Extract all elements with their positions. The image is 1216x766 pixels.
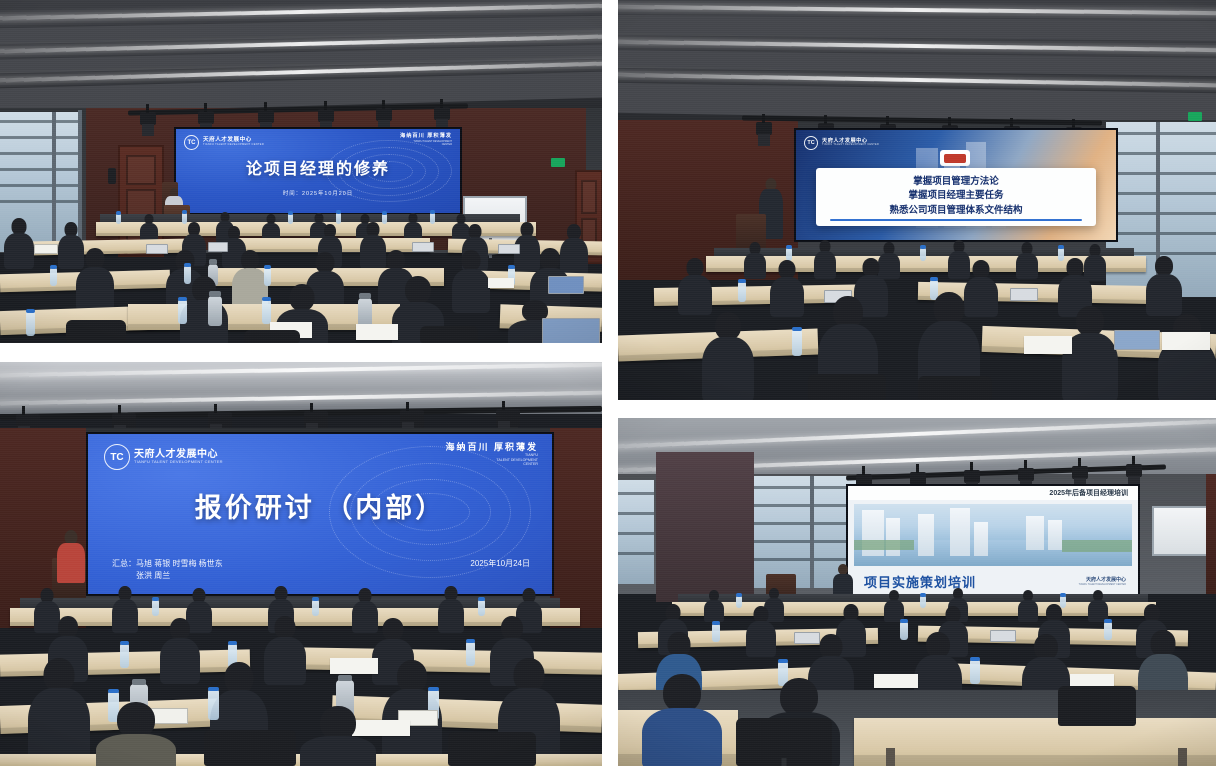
building-render-image (854, 504, 1132, 566)
laptop (146, 244, 168, 254)
chair (66, 320, 126, 343)
water-bottle (920, 248, 926, 261)
water-bottle (1104, 622, 1112, 640)
screen-banner-bar: 2025年后备项目经理培训 (848, 486, 1138, 500)
screen-logo: TC 天府人才发展中心 TIANFU TALENT DEVELOPMENT CE… (104, 444, 223, 470)
table (854, 718, 1216, 766)
speaker-person (832, 564, 854, 598)
tianfu-logo-icon: TC (804, 136, 818, 150)
water-bottle (336, 213, 341, 224)
chair (448, 732, 536, 766)
water-bottle (792, 330, 802, 356)
attendee (1018, 590, 1038, 620)
wall-speaker (108, 168, 116, 184)
water-bottle (970, 660, 980, 684)
attendee (746, 606, 776, 654)
attendee (404, 213, 422, 240)
attendee (112, 586, 138, 630)
led-screen: TC 天府人才发展中心 TIANFU TALENT DEVELOPMENT CE… (86, 432, 554, 596)
laptop (1010, 288, 1038, 301)
screen-footer-en: TIANFU TALENT DEVELOPMENT CENTER (1079, 584, 1126, 587)
attendee (744, 242, 766, 276)
credit-line-1: 汇总：马旭 蒋银 时雪梅 杨世东 (112, 558, 223, 570)
screen-banner-text: 2025年后备项目经理培训 (1049, 488, 1128, 498)
attendee (300, 706, 376, 766)
laptop (542, 318, 600, 343)
water-bottle (208, 690, 219, 720)
water-bottle (116, 214, 121, 224)
screen-corner-text: 海纳百川 厚积薄发 TIANFU TALENT DEVELOPMENT CENT… (445, 442, 538, 467)
screen-title: 报价研讨 （内部） (88, 486, 552, 525)
photo-top-left: TC 天府人才发展中心 TIANFU TALENT DEVELOPMENT CE… (0, 0, 602, 343)
objective-line-3: 熟悉公司项目管理体系文件结构 (816, 204, 1096, 218)
attendee (1158, 314, 1216, 400)
water-bottle (288, 214, 293, 224)
led-screen: TC 天府人才发展中心 TIANFU TALENT DEVELOPMENT CE… (794, 128, 1118, 242)
screen-corner-en-2: CENTER (400, 143, 452, 146)
chair (204, 730, 296, 766)
screen-date: 2025年10月24日 (470, 558, 530, 569)
screen-subtitle: 时间：2025年10月20日 (176, 189, 460, 197)
wall-pillar (656, 452, 754, 602)
table-leg (886, 748, 895, 766)
attendee (642, 674, 722, 766)
attendee (4, 218, 34, 266)
laptop (990, 630, 1016, 642)
attendee (884, 590, 904, 620)
water-bottle (466, 642, 475, 666)
paper-document (1162, 332, 1210, 350)
screen-logo: TC 天府人才发展中心 TIANFU TALENT DEVELOPMENT CE… (804, 136, 879, 150)
tianfu-logo-icon: TC (184, 135, 199, 150)
credit-line-2: 张洪 周兰 (136, 570, 223, 582)
screen-corner-text: 海纳百川 厚积薄发 TIANFU TALENT DEVELOPMENT CENT… (400, 133, 452, 146)
paper-document (874, 674, 918, 688)
chair (918, 376, 992, 400)
table (672, 602, 1156, 616)
tianfu-logo-icon: TC (104, 444, 130, 470)
paper-document (488, 278, 514, 288)
attendee (452, 250, 490, 308)
water-bottle (712, 624, 720, 642)
attendee (262, 214, 280, 240)
screen-logo-en: TIANFU TALENT DEVELOPMENT CENTER (822, 144, 879, 147)
laptop (208, 242, 228, 252)
water-bottle (312, 600, 319, 616)
seal-badge (940, 150, 970, 166)
attendee (1016, 242, 1038, 276)
laptop (548, 276, 584, 294)
photo-top-right: TC 天府人才发展中心 TIANFU TALENT DEVELOPMENT CE… (618, 0, 1216, 400)
attendee (678, 258, 712, 312)
attendee (96, 702, 176, 766)
laptop (412, 242, 434, 252)
attendee (28, 658, 90, 764)
screen-corner-cn: 海纳百川 厚积薄发 (445, 442, 538, 453)
attendee (1146, 256, 1182, 314)
chair (420, 326, 478, 343)
screen-footer-logo: 天府人才发展中心 TIANFU TALENT DEVELOPMENT CENTE… (1079, 578, 1126, 587)
water-bottle (120, 644, 129, 668)
water-bottle (26, 312, 35, 336)
water-bottle (152, 600, 159, 616)
attendee (814, 240, 836, 276)
wall-wood-panel (1206, 474, 1216, 594)
paper-document (1024, 336, 1072, 354)
water-bottle (430, 213, 435, 224)
objective-line-1: 掌握项目管理方法论 (816, 175, 1096, 189)
photo-bottom-left: TC 天府人才发展中心 TIANFU TALENT DEVELOPMENT CE… (0, 362, 602, 766)
water-bottle (50, 268, 57, 286)
led-screen: 2025年后备项目经理培训 项目实施策划培训 天府人才发展中心 (846, 484, 1140, 604)
attendee (264, 616, 306, 680)
screen-corner-en-3: CENTER (445, 462, 538, 466)
water-bottle (736, 596, 742, 608)
laptop (1114, 330, 1160, 350)
water-bottle (900, 622, 908, 640)
chair (808, 374, 886, 400)
objective-line-2: 掌握项目经理主要任务 (816, 189, 1096, 203)
photo-collage: TC 天府人才发展中心 TIANFU TALENT DEVELOPMENT CE… (0, 0, 1216, 766)
attendee (770, 260, 804, 314)
attendee (140, 214, 158, 240)
paper-document (356, 324, 398, 340)
screen-logo: TC 天府人才发展中心 TIANFU TALENT DEVELOPMENT CE… (184, 135, 264, 150)
water-bottle (738, 282, 746, 302)
attendee (160, 618, 200, 680)
water-bottle (178, 300, 187, 324)
attendee (704, 590, 724, 620)
screen-title: 论项目经理的修养 (176, 155, 460, 179)
paper-document (330, 658, 378, 674)
led-screen: TC 天府人才发展中心 TIANFU TALENT DEVELOPMENT CE… (174, 127, 462, 215)
chair (736, 718, 832, 766)
attendee (1088, 590, 1108, 620)
water-bottle (264, 268, 271, 286)
speaker-person (56, 530, 86, 582)
screen-credit: 汇总：马旭 蒋银 时雪梅 杨世东 张洪 周兰 (112, 558, 223, 582)
attendee (702, 312, 754, 400)
screen-logo-en: TIANFU TALENT DEVELOPMENT CENTER (203, 144, 264, 147)
exit-sign-icon (1188, 112, 1202, 121)
laptop (498, 244, 520, 254)
thermos (208, 296, 222, 326)
chair (244, 330, 300, 343)
attendee (438, 586, 464, 630)
table-leg (1178, 748, 1187, 766)
window (618, 480, 654, 584)
name-plate (34, 244, 58, 254)
screen-logo-en: TIANFU TALENT DEVELOPMENT CENTER (134, 460, 223, 464)
exit-sign-icon (551, 158, 565, 167)
water-bottle (478, 600, 485, 616)
water-bottle (262, 300, 271, 324)
attendee (76, 248, 114, 306)
chair (1058, 686, 1136, 726)
water-bottle (920, 596, 926, 608)
objective-card: 掌握项目管理方法论 掌握项目经理主要任务 熟悉公司项目管理体系文件结构 (816, 168, 1096, 226)
photo-bottom-right: 2025年后备项目经理培训 项目实施策划培训 天府人才发展中心 (618, 418, 1216, 766)
